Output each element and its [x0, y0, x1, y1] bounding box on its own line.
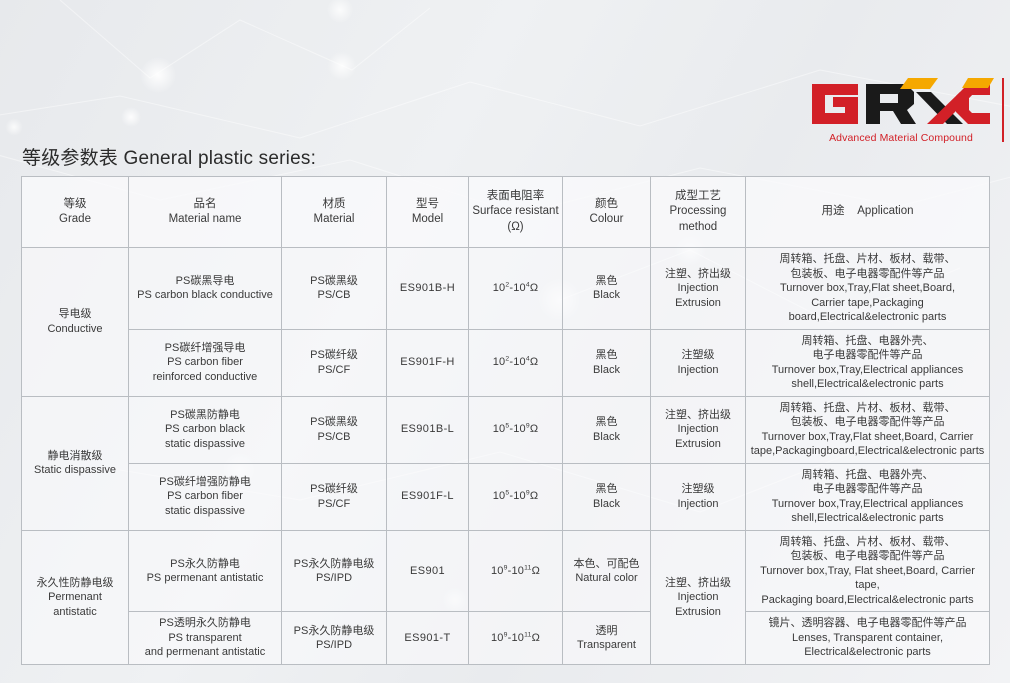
col-header-colour-en: Colour — [566, 212, 647, 227]
table-row: 永久性防静电级 Permenant antistatic PS永久防静电 PS … — [22, 530, 990, 612]
surface-resistance: 109-1011Ω — [469, 612, 563, 665]
grade-conductive-cn: 导电级 — [25, 307, 125, 322]
logo-divider — [1002, 78, 1004, 142]
col-header-processing-method: 成型工艺 Processing method — [651, 177, 746, 248]
col-header-surface-resistant-cn: 表面电阻率 — [472, 189, 559, 204]
table-header-row: 等级 Grade 品名 Material name 材质 Material 型号… — [22, 177, 990, 248]
col-header-surface-resistant: 表面电阻率 Surface resistant (Ω) — [469, 177, 563, 248]
model-code: ES901F-L — [387, 463, 469, 530]
model-code: ES901-T — [387, 612, 469, 665]
material-type: PS永久防静电级 PS/IPD — [282, 530, 387, 612]
col-header-grade: 等级 Grade — [22, 177, 129, 248]
grade-permenant-antistatic: 永久性防静电级 Permenant antistatic — [22, 530, 129, 664]
colour: 黑色 Black — [563, 396, 651, 463]
application: 周转箱、托盘、片材、板材、载带、 包装板、电子电器零配件等产品 Turnover… — [746, 530, 990, 612]
material-name: PS碳黑导电 PS carbon black conductive — [129, 248, 282, 330]
col-header-material-name: 品名 Material name — [129, 177, 282, 248]
grade-permenant-antistatic-en: Permenant antistatic — [25, 590, 125, 619]
model-code: ES901B-H — [387, 248, 469, 330]
material-type: PS碳黑级 PS/CB — [282, 248, 387, 330]
surface-resistance: 105-109Ω — [469, 396, 563, 463]
material-name: PS碳黑防静电 PS carbon black static dispassiv… — [129, 396, 282, 463]
processing-method: 注塑级 Injection — [651, 463, 746, 530]
processing-method: 注塑、挤出级 Injection Extrusion — [651, 396, 746, 463]
grade-conductive-en: Conductive — [25, 322, 125, 337]
application: 周转箱、托盘、电器外壳、 电子电器零配件等产品 Turnover box,Tra… — [746, 329, 990, 396]
grade-static-dispassive-cn: 静电消散级 — [25, 449, 125, 464]
material-type: PS碳黑级 PS/CB — [282, 396, 387, 463]
col-header-grade-cn: 等级 — [25, 197, 125, 212]
material-type: PS碳纤级 PS/CF — [282, 329, 387, 396]
surface-resistance: 105-109Ω — [469, 463, 563, 530]
colour: 黑色 Black — [563, 463, 651, 530]
table-row: 导电级 Conductive PS碳黑导电 PS carbon black co… — [22, 248, 990, 330]
col-header-grade-en: Grade — [25, 212, 125, 227]
col-header-material-name-en: Material name — [132, 212, 278, 227]
table-row: PS碳纤增强导电 PS carbon fiber reinforced cond… — [22, 329, 990, 396]
brand-logo: Advanced Material Compound — [806, 78, 996, 144]
material-name: PS透明永久防静电 PS transparent and permenant a… — [129, 612, 282, 665]
col-header-material: 材质 Material — [282, 177, 387, 248]
logo-tagline: Advanced Material Compound — [806, 132, 996, 144]
material-type: PS永久防静电级 PS/IPD — [282, 612, 387, 665]
processing-method: 注塑、挤出级 Injection Extrusion — [651, 248, 746, 330]
col-header-processing-method-cn: 成型工艺 — [654, 189, 742, 204]
general-plastic-series-table: 等级 Grade 品名 Material name 材质 Material 型号… — [21, 176, 990, 665]
spec-table-container: 等级 Grade 品名 Material name 材质 Material 型号… — [21, 176, 989, 665]
application: 周转箱、托盘、片材、板材、载带、 包装板、电子电器零配件等产品 Turnover… — [746, 396, 990, 463]
col-header-processing-method-en: Processing method — [654, 204, 742, 234]
table-row: PS透明永久防静电 PS transparent and permenant a… — [22, 612, 990, 665]
col-header-material-en: Material — [285, 212, 383, 227]
page-title: 等级参数表 General plastic series: — [22, 143, 316, 170]
grade-conductive: 导电级 Conductive — [22, 248, 129, 397]
grade-static-dispassive-en: Static dispassive — [25, 463, 125, 478]
col-header-application-cn: 用途 — [821, 205, 844, 217]
material-type: PS碳纤级 PS/CF — [282, 463, 387, 530]
colour: 黑色 Black — [563, 248, 651, 330]
surface-resistance: 102-104Ω — [469, 329, 563, 396]
col-header-colour: 颜色 Colour — [563, 177, 651, 248]
col-header-material-cn: 材质 — [285, 197, 383, 212]
col-header-application: 用途 Application — [746, 177, 990, 248]
grade-permenant-antistatic-cn: 永久性防静电级 — [25, 576, 125, 591]
material-name: PS碳纤增强导电 PS carbon fiber reinforced cond… — [129, 329, 282, 396]
grade-static-dispassive: 静电消散级 Static dispassive — [22, 396, 129, 530]
table-row: PS碳纤增强防静电 PS carbon fiber static dispass… — [22, 463, 990, 530]
processing-method: 注塑、挤出级 Injection Extrusion — [651, 530, 746, 664]
model-code: ES901 — [387, 530, 469, 612]
col-header-model-en: Model — [390, 212, 465, 227]
material-name: PS永久防静电 PS permenant antistatic — [129, 530, 282, 612]
colour: 黑色 Black — [563, 329, 651, 396]
surface-resistance: 109-1011Ω — [469, 530, 563, 612]
model-code: ES901F-H — [387, 329, 469, 396]
grx-logo-icon — [808, 78, 994, 130]
col-header-surface-resistant-unit: (Ω) — [472, 220, 559, 235]
col-header-application-en: Application — [857, 205, 913, 217]
col-header-model: 型号 Model — [387, 177, 469, 248]
colour: 本色、可配色 Natural color — [563, 530, 651, 612]
model-code: ES901B-L — [387, 396, 469, 463]
col-header-model-cn: 型号 — [390, 197, 465, 212]
col-header-material-name-cn: 品名 — [132, 197, 278, 212]
application: 镜片、透明容器、电子电器零配件等产品 Lenses, Transparent c… — [746, 612, 990, 665]
application: 周转箱、托盘、电器外壳、 电子电器零配件等产品 Turnover box,Tra… — [746, 463, 990, 530]
colour: 透明 Transparent — [563, 612, 651, 665]
material-name: PS碳纤增强防静电 PS carbon fiber static dispass… — [129, 463, 282, 530]
col-header-surface-resistant-en: Surface resistant — [472, 204, 559, 219]
surface-resistance: 102-104Ω — [469, 248, 563, 330]
processing-method: 注塑级 Injection — [651, 329, 746, 396]
application: 周转箱、托盘、片材、板材、载带、 包装板、电子电器零配件等产品 Turnover… — [746, 248, 990, 330]
table-row: 静电消散级 Static dispassive PS碳黑防静电 PS carbo… — [22, 396, 990, 463]
col-header-colour-cn: 颜色 — [566, 197, 647, 212]
